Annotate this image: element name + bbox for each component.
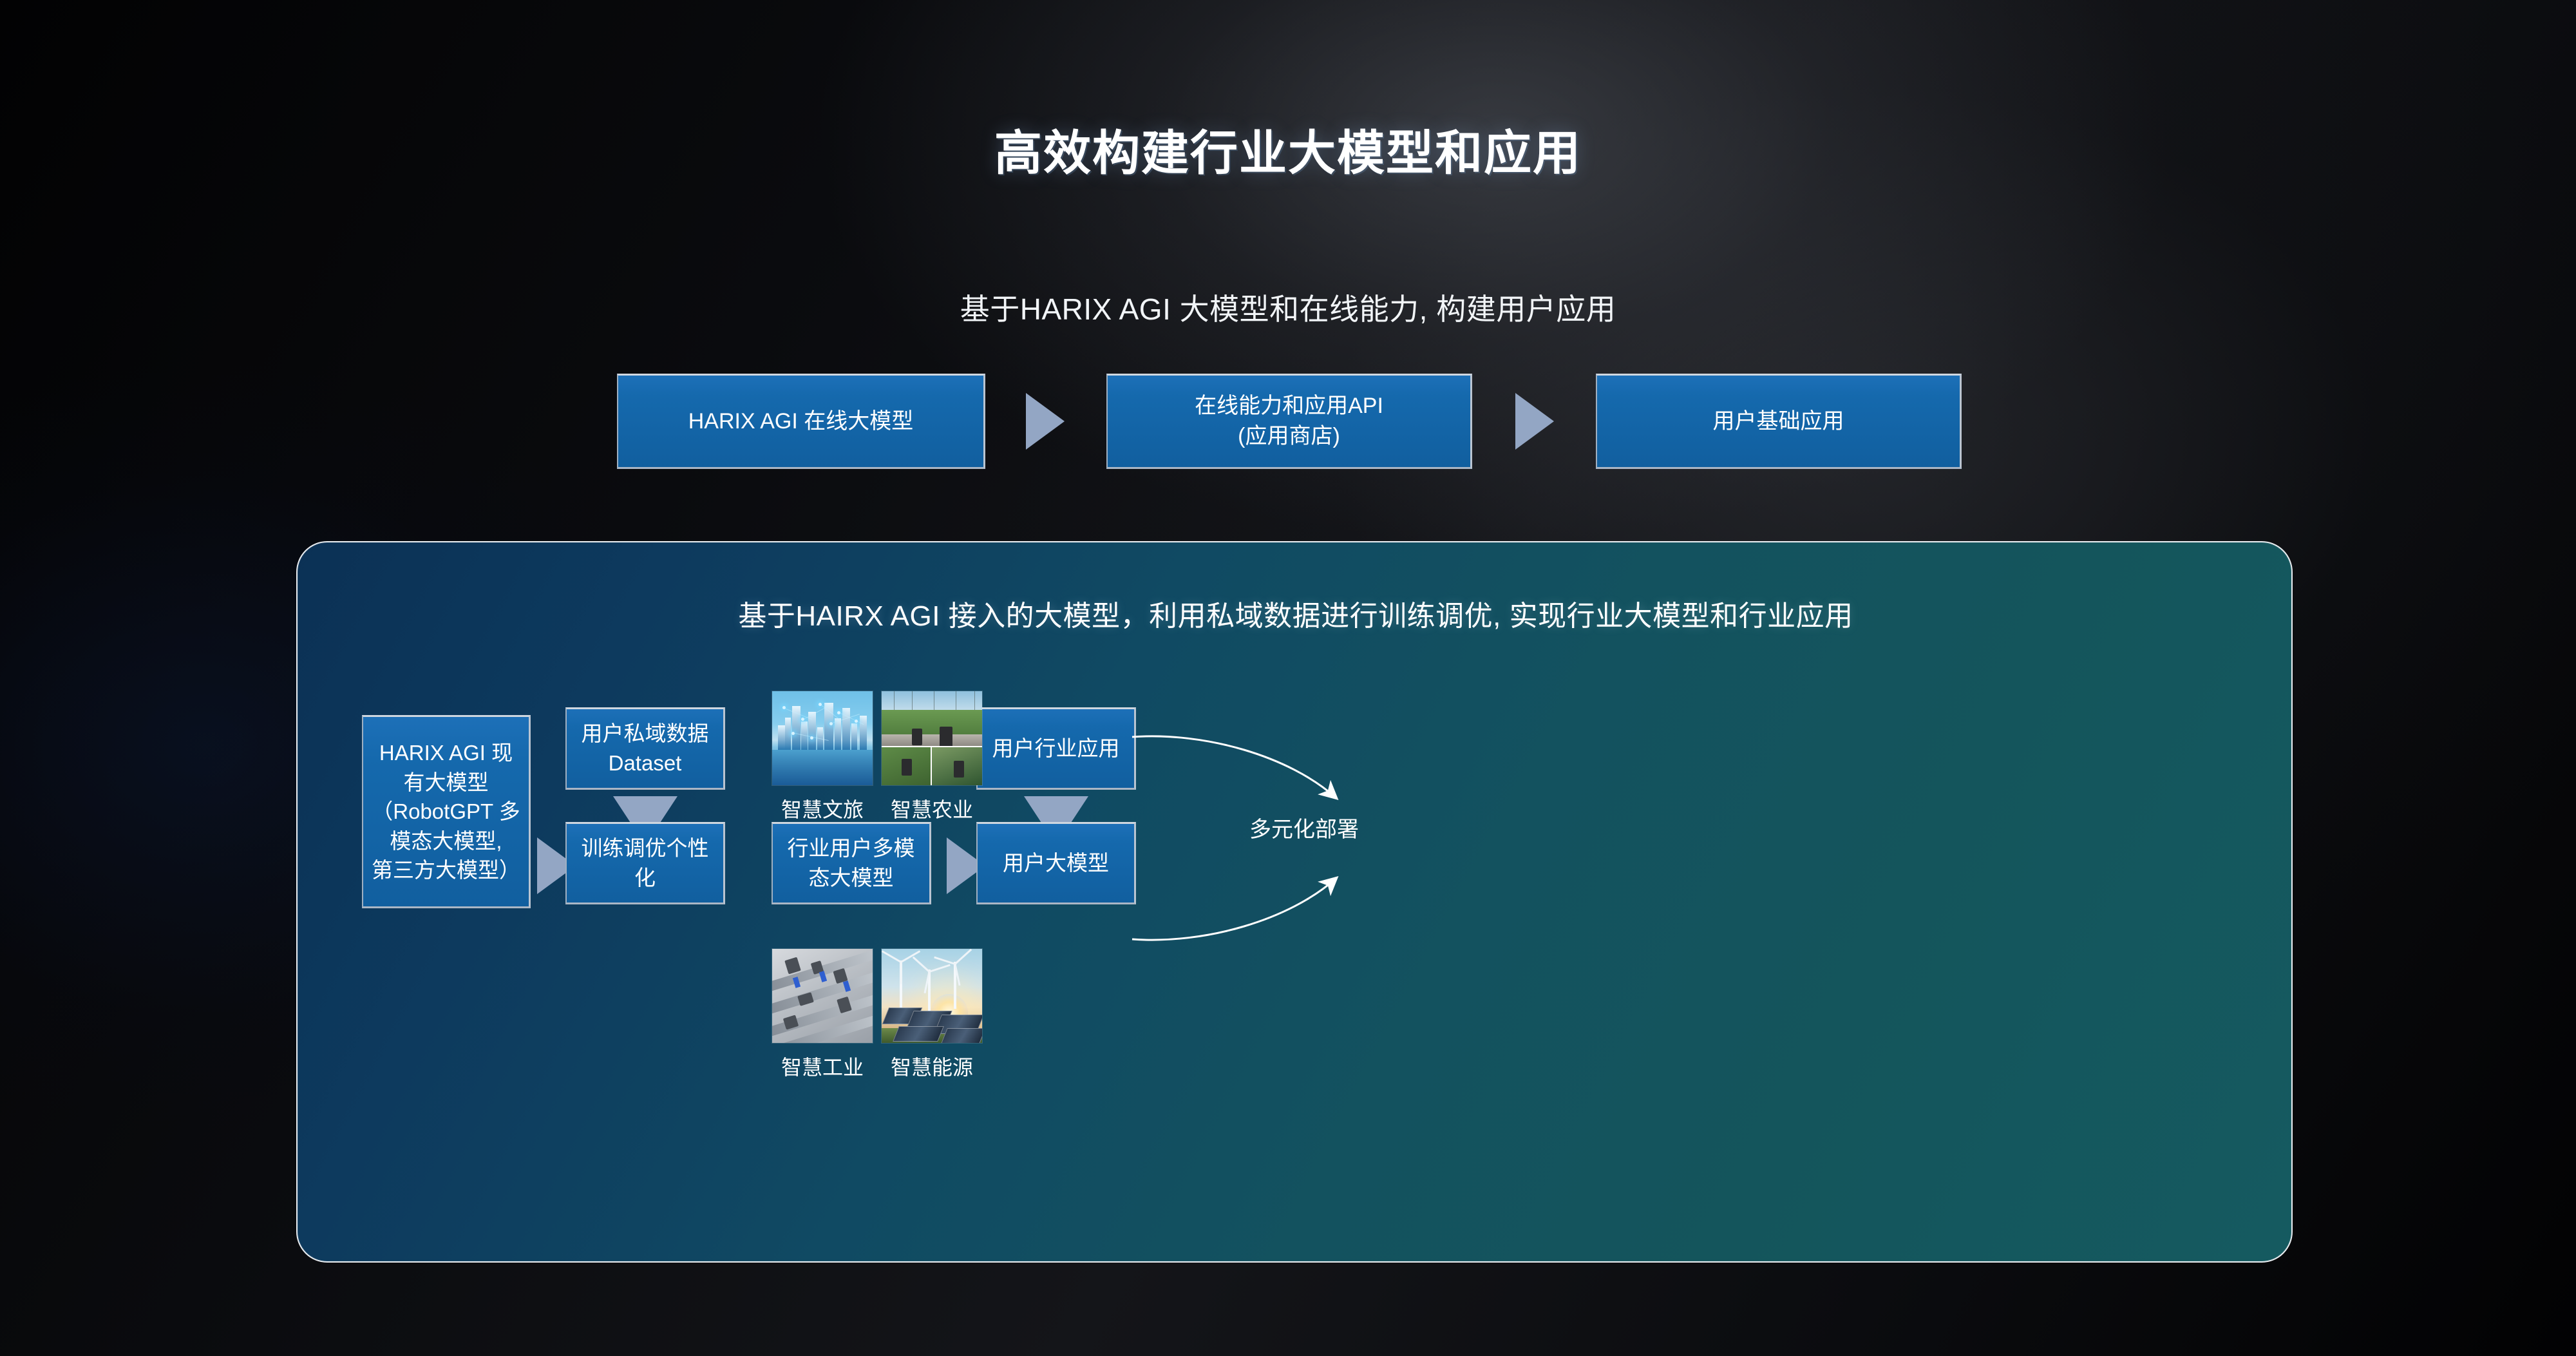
node-user-private-dataset[interactable]: 用户私域数据 Dataset [565,707,725,790]
node-training-optimization[interactable]: 训练调优个性化 [565,822,725,904]
thumbnail-caption: 智慧工业 [772,1051,873,1081]
node-industry-multimodal-model[interactable]: 行业用户多模态大模型 [772,822,931,904]
node-harix-existing-model[interactable]: HARIX AGI 现有大模型 （RobotGPT 多模态大模型, 第三方大模型… [362,715,531,908]
triangle-right-icon [1026,393,1065,450]
thumbnail-caption: 智慧文旅 [772,794,873,823]
page-title: 高效构建行业大模型和应用 [0,115,2576,184]
slide-canvas: 高效构建行业大模型和应用 基于HARIX AGI 大模型和在线能力, 构建用户应… [0,0,2576,1356]
smart-energy-image [881,948,983,1044]
flow-box-user-basic-app[interactable]: 用户基础应用 [1596,374,1962,469]
thumbnail-smart-energy[interactable]: 智慧能源 [881,948,983,1081]
deploy-label: 多元化部署 [1249,812,1359,843]
triangle-right-icon [1515,393,1554,450]
thumbnail-smart-agriculture[interactable]: 智慧农业 [881,691,983,823]
subtitle: 基于HARIX AGI 大模型和在线能力, 构建用户应用 [0,286,2576,329]
smart-city-image [772,691,873,786]
thumbnail-caption: 智慧农业 [881,794,983,823]
main-panel: 基于HAIRX AGI 接入的大模型，利用私域数据进行训练调优, 实现行业大模型… [296,541,2293,1263]
flow-box-online-capability-api[interactable]: 在线能力和应用API (应用商店) [1106,374,1472,469]
thumbnail-smart-tourism[interactable]: 智慧文旅 [772,691,873,823]
flow-box-harix-online-model[interactable]: HARIX AGI 在线大模型 [617,374,985,469]
node-user-industry-application[interactable]: 用户行业应用 [976,707,1136,790]
smart-agriculture-image [881,691,983,786]
node-user-large-model[interactable]: 用户大模型 [976,822,1136,904]
thumbnail-caption: 智慧能源 [881,1051,983,1081]
panel-heading: 基于HAIRX AGI 接入的大模型，利用私域数据进行训练调优, 实现行业大模型… [298,593,2293,634]
smart-industry-image [772,948,873,1044]
thumbnail-smart-industry[interactable]: 智慧工业 [772,948,873,1081]
